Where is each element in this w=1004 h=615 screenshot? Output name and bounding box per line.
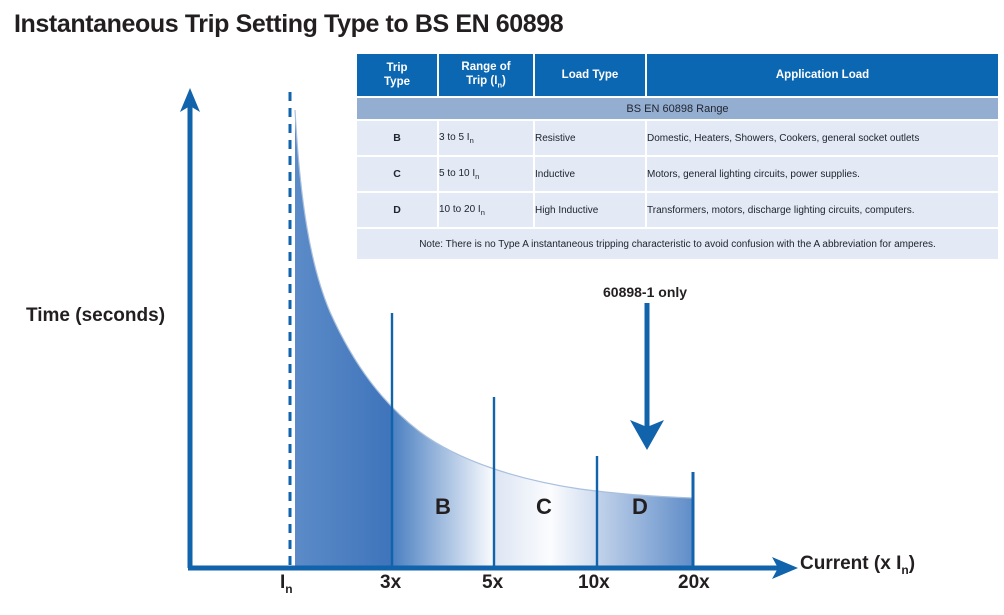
table-row: C 5 to 10 In Inductive Motors, general l… [356, 156, 999, 192]
row-application: Domestic, Heaters, Showers, Cookers, gen… [646, 120, 999, 156]
row-load: Resistive [534, 120, 646, 156]
row-range-text: 3 to 5 I [439, 132, 470, 143]
x-tick-5x: 5x [482, 572, 503, 594]
annotation-label: 60898-1 only [603, 284, 687, 300]
x-tick-3x: 3x [380, 572, 401, 594]
x-tick-10x: 10x [578, 572, 610, 594]
row-load: Inductive [534, 156, 646, 192]
header-trip-type-line2: Type [384, 76, 410, 88]
table-row: D 10 to 20 In High Inductive Transformer… [356, 192, 999, 228]
header-range-line1: Range of [461, 61, 510, 73]
row-range: 10 to 20 In [438, 192, 534, 228]
row-range-subscript: n [470, 136, 474, 145]
row-range-subscript: n [475, 172, 479, 181]
header-trip-type: Trip Type [356, 53, 438, 97]
table-header-row: Trip Type Range of Trip (In) Load Type A… [356, 53, 999, 97]
row-load: High Inductive [534, 192, 646, 228]
row-range-text: 10 to 20 I [439, 204, 481, 215]
header-range-line2-pre: Trip (I [466, 75, 497, 87]
row-application: Motors, general lighting circuits, power… [646, 156, 999, 192]
x-tick-in: In [280, 572, 293, 596]
x-axis-title: Current (x In) [800, 553, 915, 577]
header-load-type: Load Type [534, 53, 646, 97]
table-note: Note: There is no Type A instantaneous t… [356, 228, 999, 260]
table-note-row: Note: There is no Type A instantaneous t… [356, 228, 999, 260]
zone-label-c: C [536, 494, 552, 520]
header-range-of-trip: Range of Trip (In) [438, 53, 534, 97]
table-row: B 3 to 5 In Resistive Domestic, Heaters,… [356, 120, 999, 156]
header-range-line2-post: ) [502, 75, 506, 87]
row-application: Transformers, motors, discharge lighting… [646, 192, 999, 228]
row-type: B [356, 120, 438, 156]
spec-table: Trip Type Range of Trip (In) Load Type A… [355, 52, 1000, 261]
header-application-load: Application Load [646, 53, 999, 97]
header-trip-type-line1: Trip [386, 62, 407, 74]
table-band-row: BS EN 60898 Range [356, 97, 999, 120]
row-range: 5 to 10 In [438, 156, 534, 192]
row-range-subscript: n [481, 208, 485, 217]
row-type: D [356, 192, 438, 228]
zone-label-b: B [435, 494, 451, 520]
row-range: 3 to 5 In [438, 120, 534, 156]
x-tick-20x: 20x [678, 572, 710, 594]
zone-label-d: D [632, 494, 648, 520]
row-type: C [356, 156, 438, 192]
y-axis-title: Time (seconds) [26, 305, 165, 327]
band-label: BS EN 60898 Range [356, 97, 999, 120]
row-range-text: 5 to 10 I [439, 168, 475, 179]
